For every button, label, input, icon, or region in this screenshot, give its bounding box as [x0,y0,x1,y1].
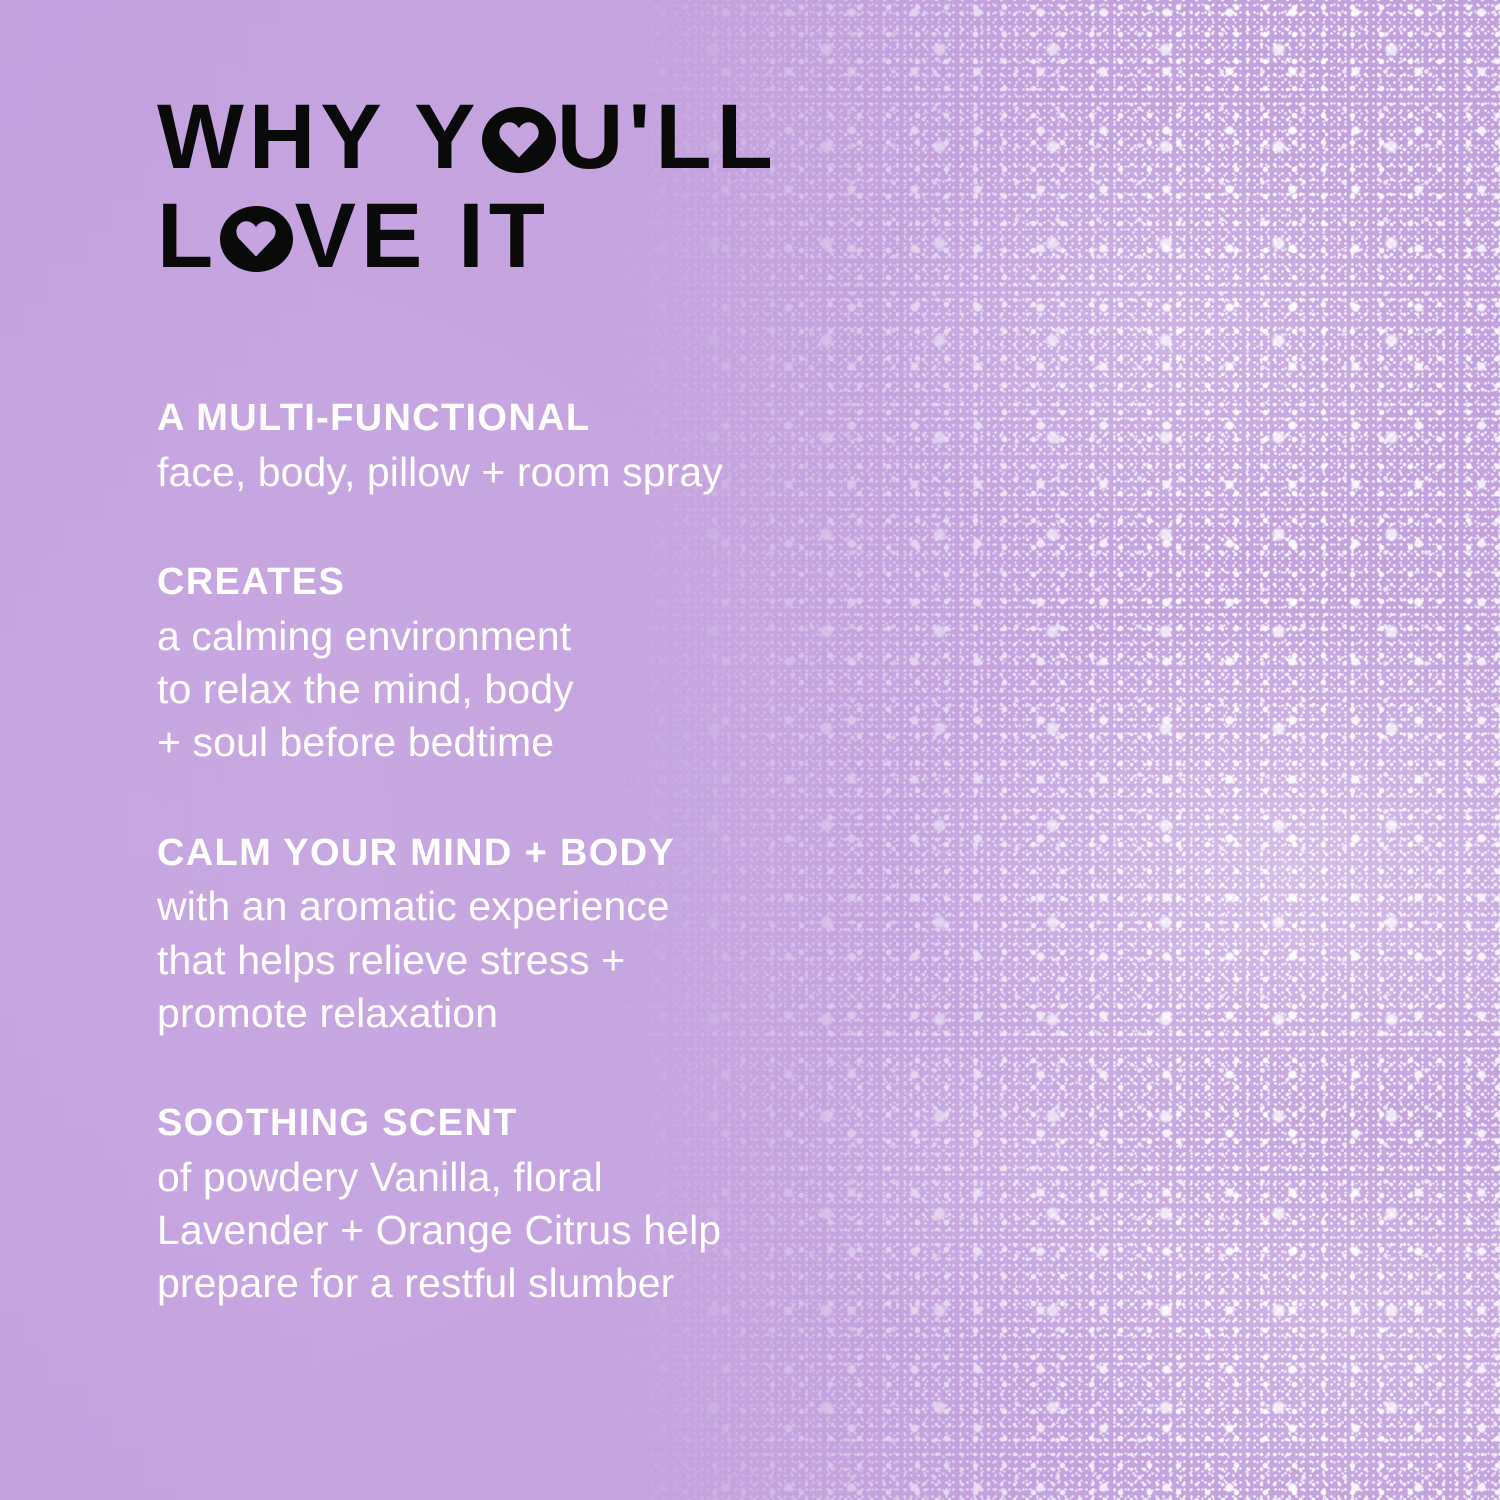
benefit-item: A MULTI-FUNCTIONAL face, body, pillow + … [157,397,917,499]
benefit-description: a calming environment to relax the mind,… [157,610,917,770]
title-line-2: LVE IT [157,187,778,286]
heart-glyph-icon [220,206,294,272]
title-line-1: WHY YU'LL [157,88,778,187]
benefit-line: prepare for a restful slumber [157,1257,917,1310]
benefit-line: with an aromatic experience [157,880,917,933]
benefit-item: CREATES a calming environment to relax t… [157,561,917,770]
benefit-item: SOOTHING SCENT of powdery Vanilla, flora… [157,1102,917,1311]
benefit-line: of powdery Vanilla, floral [157,1151,917,1204]
heart-glyph-icon [482,107,556,173]
benefit-line: to relax the mind, body [157,663,917,716]
benefit-heading: CALM YOUR MIND + BODY [157,832,917,876]
page-title: WHY YU'LL LVE IT [157,88,778,287]
benefit-heading: A MULTI-FUNCTIONAL [157,397,917,441]
benefit-line: that helps relieve stress + [157,934,917,987]
benefit-line: Lavender + Orange Citrus help [157,1204,917,1257]
benefit-item: CALM YOUR MIND + BODY with an aromatic e… [157,832,917,1041]
benefit-line: promote relaxation [157,987,917,1040]
content-layer: WHY YU'LL LVE IT A MULTI-FUNCTIONAL face… [0,0,1500,1500]
benefit-line: a calming environment [157,610,917,663]
title-line-1-part-b: U'LL [557,86,778,188]
benefits-list: A MULTI-FUNCTIONAL face, body, pillow + … [157,397,917,1311]
benefit-description: face, body, pillow + room spray [157,446,917,499]
product-benefits-graphic: WHY YU'LL LVE IT A MULTI-FUNCTIONAL face… [0,0,1500,1500]
title-line-2-part-a: L [157,185,218,287]
benefit-line: face, body, pillow + room spray [157,446,917,499]
benefit-heading: SOOTHING SCENT [157,1102,917,1146]
benefit-heading: CREATES [157,561,917,605]
benefit-description: of powdery Vanilla, floral Lavender + Or… [157,1151,917,1311]
benefit-line: + soul before bedtime [157,716,917,769]
benefit-description: with an aromatic experience that helps r… [157,880,917,1040]
title-line-2-part-b: VE IT [295,185,550,287]
title-line-1-part-a: WHY Y [157,86,481,188]
